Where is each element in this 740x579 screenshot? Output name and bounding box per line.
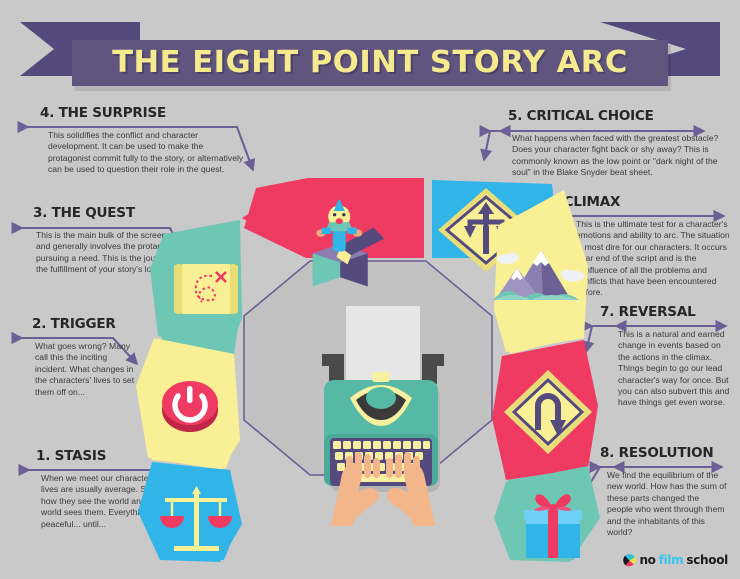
point-7-heading: 7. REVERSAL bbox=[600, 304, 736, 320]
logo-text-school: school bbox=[686, 553, 728, 567]
point-7-body: This is a natural and earned change in e… bbox=[618, 329, 730, 409]
title-banner: THE EIGHT POINT STORY ARC bbox=[0, 14, 740, 86]
segment-point-3[interactable] bbox=[150, 220, 242, 354]
power-button-icon bbox=[162, 381, 218, 432]
typewriter-illustration bbox=[312, 306, 454, 526]
logo-text-no: no bbox=[639, 553, 655, 567]
point-8-body: We find the equilibrium of the new world… bbox=[607, 470, 727, 538]
treasure-map-icon bbox=[174, 264, 238, 314]
banner-body: THE EIGHT POINT STORY ARC bbox=[72, 40, 668, 86]
point-5-heading: 5. CRITICAL CHOICE bbox=[508, 108, 730, 124]
segment-point-1[interactable] bbox=[138, 462, 242, 562]
page-title: THE EIGHT POINT STORY ARC bbox=[66, 40, 674, 86]
segment-point-8[interactable] bbox=[494, 466, 600, 562]
point-block-8: 8. RESOLUTION We find the equilibrium of… bbox=[600, 445, 736, 538]
segment-point-7[interactable] bbox=[492, 340, 598, 480]
nofilmschool-mark-icon bbox=[623, 554, 636, 567]
point-8-heading: 8. RESOLUTION bbox=[600, 445, 736, 461]
point-block-7: 7. REVERSAL This is a natural and earned… bbox=[600, 304, 736, 409]
logo-text-film: film bbox=[659, 553, 684, 567]
point-4-heading: 4. THE SURPRISE bbox=[40, 105, 258, 121]
segment-point-2[interactable] bbox=[136, 338, 240, 470]
point-block-4: 4. THE SURPRISE This solidifies the conf… bbox=[40, 105, 258, 176]
infographic-canvas: THE EIGHT POINT STORY ARC bbox=[0, 0, 740, 579]
nofilmschool-logo[interactable]: nofilmschool bbox=[623, 553, 728, 567]
arrow-point-5 bbox=[484, 131, 500, 160]
